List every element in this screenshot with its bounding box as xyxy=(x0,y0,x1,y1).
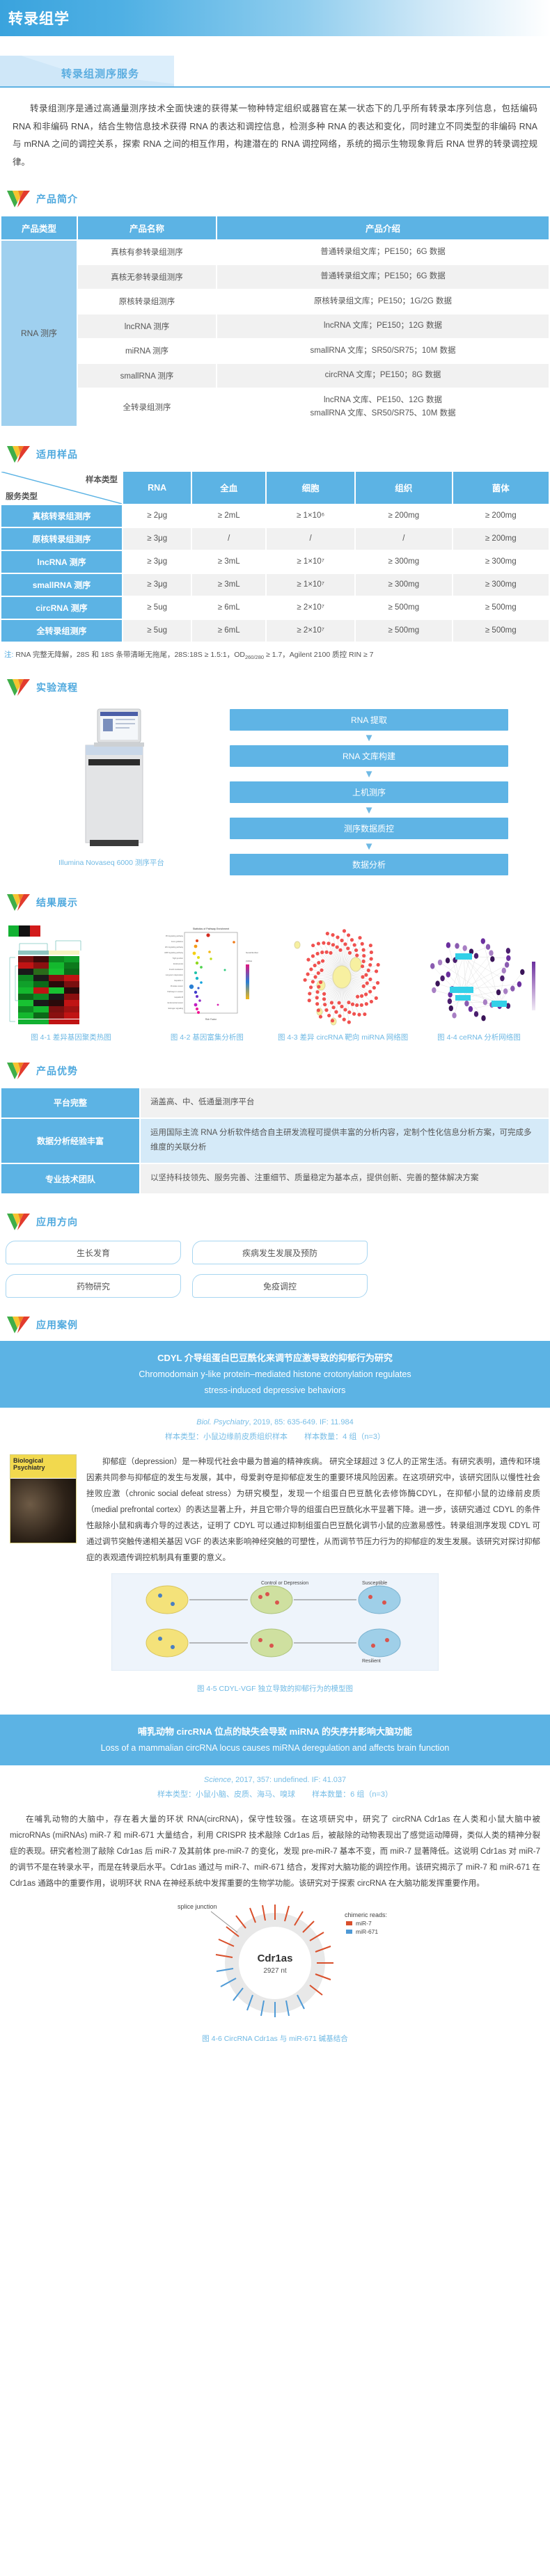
heading-label: 适用样品 xyxy=(36,447,78,461)
table-row: 原核转录组测序原核转录组文库；PE150；1G/2G 数据 xyxy=(1,289,549,315)
case-1-journal-rest: , 2019, 85: 635-649. IF: 11.984 xyxy=(249,1418,353,1426)
product-name-cell: lncRNA 测序 xyxy=(77,314,217,339)
circrna-mirna-network-icon xyxy=(278,923,409,1027)
result-caption: 图 4-1 差异基因聚类热图 xyxy=(6,1033,136,1044)
splice-junction-label: splice junction xyxy=(178,1903,217,1910)
sample-value-cell: ≥ 2mL xyxy=(191,504,266,527)
heading-product-intro: 产品简介 xyxy=(7,190,550,208)
svg-text:Statistics of Pathway Enrichme: Statistics of Pathway Enrichment xyxy=(193,928,229,930)
cdr1as-circle-diagram-icon: Cdr1as 2927 nt splice junction chimeric … xyxy=(136,1899,414,2024)
flow-step: RNA 文库构建 xyxy=(230,745,508,767)
product-name-cell: 全转录组测序 xyxy=(77,388,217,427)
svg-text:pValue: pValue xyxy=(246,960,252,962)
section-ribbon: 转录组测序服务 xyxy=(0,56,550,88)
cerna-network-icon xyxy=(414,923,544,1027)
table-row: 全转录组测序≥ 5ug≥ 6mL≥ 2×10⁷≥ 500mg≥ 500mg xyxy=(1,619,549,642)
svg-text:Endocytosis: Endocytosis xyxy=(173,962,184,965)
heading-label: 产品简介 xyxy=(36,192,78,206)
svg-text:Wnt signaling pathway: Wnt signaling pathway xyxy=(165,946,184,948)
sample-service-cell: circRNA 测序 xyxy=(1,596,123,619)
sample-value-cell: / xyxy=(191,527,266,550)
sample-value-cell: ≥ 3μg xyxy=(123,527,191,550)
table-row: 真核无参转录组测序普通转录组文库；PE150；6G 数据 xyxy=(1,264,549,289)
note-subscript: 260/280 xyxy=(245,654,264,660)
product-desc-cell: 普通转录组文库；PE150；6G 数据 xyxy=(217,264,549,289)
product-desc-cell: lncRNA 文库、PE150、12G 数据 smallRNA 文库、SR50/… xyxy=(217,388,549,427)
sample-service-cell: 原核转录组测序 xyxy=(1,527,123,550)
sample-value-cell: ≥ 2×10⁷ xyxy=(266,619,355,642)
sample-value-cell: ≥ 3mL xyxy=(191,573,266,596)
sample-note: 注: RNA 完整无降解，28S 和 18S 条带清晰无拖尾，28S:18S ≥… xyxy=(4,649,546,660)
ribbon-underline xyxy=(0,86,550,88)
product-desc-cell: 普通转录组文库；PE150；6G 数据 xyxy=(217,240,549,265)
application-directions: 生长发育疾病发生发展及预防药物研究免疫调控 xyxy=(0,1238,550,1298)
case-1-meta: Biol. Psychiatry, 2019, 85: 635-649. IF:… xyxy=(0,1415,550,1445)
case-2-sample-count: 样本数量：6 组（n=3） xyxy=(312,1790,393,1799)
th-sample-bacteria: 菌体 xyxy=(453,471,549,504)
heading-results: 结果展示 xyxy=(7,893,550,912)
case-2-journal-rest: , 2017, 357: undefined. IF: 41.037 xyxy=(231,1776,346,1784)
sample-value-cell: ≥ 300mg xyxy=(355,573,452,596)
svg-text:Rich Factor: Rich Factor xyxy=(205,1018,217,1021)
case-1-title-en-line2: stress-induced depressive behaviors xyxy=(19,1383,531,1399)
cdyl-vgf-model-diagram-icon: Control or Depression Susceptible Resili… xyxy=(111,1573,439,1671)
case-1-title-banner: CDYL 介导组蛋白巴豆酰化来调节应激导致的抑郁行为研究 Chromodomai… xyxy=(0,1341,550,1408)
product-desc-cell: lncRNA 文库；PE150；12G 数据 xyxy=(217,314,549,339)
sample-value-cell: ≥ 1×10⁶ xyxy=(266,504,355,527)
workflow-block: Illumina Novaseq 6000 测序平台 RNA 提取▼RNA 文库… xyxy=(0,703,550,875)
svg-text:Long-term depression: Long-term depression xyxy=(166,973,184,976)
table-row: lncRNA 测序≥ 3μg≥ 3mL≥ 1×10⁷≥ 300mg≥ 300mg xyxy=(1,550,549,573)
advantage-value: 涵盖高、中、低通量测序平台 xyxy=(140,1088,549,1118)
sample-value-cell: ≥ 3μg xyxy=(123,573,191,596)
case-2-title-en: Loss of a mammalian circRNA locus causes… xyxy=(19,1740,531,1756)
flow-step: 上机测序 xyxy=(230,781,508,803)
results-figures: 图 4-1 差异基因聚类热图 Pi3 signaling pathway Axo… xyxy=(0,919,550,1044)
case-1-sample-type: 样本类型：小鼠边缘前皮质组织样本 xyxy=(165,1433,288,1441)
sample-value-cell: ≥ 300mg xyxy=(453,550,549,573)
th-product-name: 产品名称 xyxy=(77,216,217,240)
sequencer-caption: Illumina Novaseq 6000 测序平台 xyxy=(0,857,223,868)
sample-value-cell: / xyxy=(266,527,355,550)
product-category-cell: RNA 测序 xyxy=(1,240,77,427)
svg-text:Prostate cancer: Prostate cancer xyxy=(171,985,183,987)
case-1-text: 抑郁症（depression）是一种现代社会中最为普遍的精神疾病。 研究全球超过… xyxy=(86,1454,540,1566)
application-direction-pill[interactable]: 生长发育 xyxy=(6,1241,181,1264)
sequencer-column: Illumina Novaseq 6000 测序平台 xyxy=(0,703,223,868)
svg-text:Estrogen signaling: Estrogen signaling xyxy=(168,1007,184,1010)
advantage-value: 以坚持科技领先、服务完善、注重细节、质量稳定为基本点，提供创新、完善的整体解决方… xyxy=(140,1163,549,1194)
intro-paragraph: 转录组测序是通过高通量测序技术全面快速的获得某一物种特定组织或器官在某一状态下的… xyxy=(13,100,537,172)
table-row: 数据分析经验丰富运用国际主流 RNA 分析软件结合自主研发流程可提供丰富的分析内… xyxy=(1,1118,549,1164)
advantage-value: 运用国际主流 RNA 分析软件结合自主研发流程可提供丰富的分析内容，定制个性化信… xyxy=(140,1118,549,1164)
sample-service-cell: smallRNA 测序 xyxy=(1,573,123,596)
v-logo-icon xyxy=(7,190,31,208)
result-caption: 图 4-2 基因富集分析图 xyxy=(141,1033,272,1044)
sample-table-corner: 样本类型 服务类型 xyxy=(1,471,123,504)
heading-workflow: 实验流程 xyxy=(7,678,550,697)
legend-mir671: miR-671 xyxy=(356,1928,378,1935)
product-name-cell: smallRNA 测序 xyxy=(77,363,217,388)
svg-text:Pi3 signaling pathway: Pi3 signaling pathway xyxy=(166,935,184,937)
application-direction-pill[interactable]: 药物研究 xyxy=(6,1274,181,1298)
heatmap-figure xyxy=(6,923,136,1027)
circle-center-label: Cdr1as xyxy=(258,1953,293,1964)
table-row: 全转录组测序lncRNA 文库、PE150、12G 数据 smallRNA 文库… xyxy=(1,388,549,427)
sample-service-cell: lncRNA 测序 xyxy=(1,550,123,573)
product-name-cell: miRNA 测序 xyxy=(77,339,217,364)
svg-text:Pathways in cancer: Pathways in cancer xyxy=(168,990,184,993)
result-figure-cerna-network: 图 4-4 ceRNA 分析网络图 xyxy=(414,923,544,1044)
sample-value-cell: ≥ 3μg xyxy=(123,550,191,573)
ribbon-label: 转录组测序服务 xyxy=(61,66,139,81)
flow-arrow-icon: ▼ xyxy=(230,841,508,852)
sample-value-cell: ≥ 300mg xyxy=(453,573,549,596)
flow-arrow-icon: ▼ xyxy=(230,805,508,816)
note-label: 注: xyxy=(4,651,13,659)
case-2-figure: Cdr1as 2927 nt splice junction chimeric … xyxy=(0,1899,550,2028)
advantage-key: 平台完整 xyxy=(1,1088,140,1118)
sample-value-cell: ≥ 3mL xyxy=(191,550,266,573)
advantage-key: 数据分析经验丰富 xyxy=(1,1118,140,1164)
note-text-2: ≥ 1.7，Agilent 2100 质控 RIN ≥ 7 xyxy=(264,651,373,659)
page-root: 转录组学 转录组测序服务 转录组测序是通过高通量测序技术全面快速的获得某一物种特… xyxy=(0,0,550,2065)
sample-value-cell: / xyxy=(355,527,452,550)
svg-text:Hepatitis B: Hepatitis B xyxy=(175,996,184,999)
heading-advantages: 产品优势 xyxy=(7,1062,550,1080)
svg-text:Control or Depression: Control or Depression xyxy=(261,1581,308,1586)
table-row: lncRNA 测序lncRNA 文库；PE150；12G 数据 xyxy=(1,314,549,339)
sample-value-cell: ≥ 300mg xyxy=(355,550,452,573)
product-desc-cell: circRNA 文库；PE150；8G 数据 xyxy=(217,363,549,388)
advantages-table: 平台完整涵盖高、中、低通量测序平台数据分析经验丰富运用国际主流 RNA 分析软件… xyxy=(0,1087,550,1195)
table-row: miRNA 测序smallRNA 文库；SR50/SR75；10M 数据 xyxy=(1,339,549,364)
result-figure-circrna-network: 图 4-3 差异 circRNA 靶向 miRNA 网络图 xyxy=(278,923,409,1044)
case-2-text: 在哺乳动物的大脑中，存在着大量的环状 RNA(circRNA)，保守性较强。在这… xyxy=(10,1812,540,1892)
table-row: 原核转录组测序≥ 3μg///≥ 200mg xyxy=(1,527,549,550)
table-row: RNA 测序真核有参转录组测序普通转录组文库；PE150；6G 数据 xyxy=(1,240,549,265)
circrna-network-figure xyxy=(278,923,409,1027)
table-row: 真核转录组测序≥ 2μg≥ 2mL≥ 1×10⁶≥ 200mg≥ 200mg xyxy=(1,504,549,527)
product-table: 产品类型 产品名称 产品介绍 RNA 测序真核有参转录组测序普通转录组文库；PE… xyxy=(0,215,550,427)
sample-value-cell: ≥ 5ug xyxy=(123,596,191,619)
table-row: 平台完整涵盖高、中、低通量测序平台 xyxy=(1,1088,549,1118)
case-2-meta: Science, 2017, 357: undefined. IF: 41.03… xyxy=(0,1773,550,1802)
table-row: smallRNA 测序≥ 3μg≥ 3mL≥ 1×10⁷≥ 300mg≥ 300… xyxy=(1,573,549,596)
svg-text:AMP signaling pathway: AMP signaling pathway xyxy=(164,951,184,954)
th-sample-blood: 全血 xyxy=(191,471,266,504)
advantage-key: 专业技术团队 xyxy=(1,1163,140,1194)
workflow-steps: RNA 提取▼RNA 文库构建▼上机测序▼测序数据质控▼数据分析 xyxy=(223,703,550,875)
th-product-desc: 产品介绍 xyxy=(217,216,549,240)
th-sample-tissue: 组织 xyxy=(355,471,452,504)
sample-value-cell: ≥ 2×10⁷ xyxy=(266,596,355,619)
svg-text:Endometrial cancer: Endometrial cancer xyxy=(168,1001,183,1004)
v-logo-icon xyxy=(7,1213,31,1231)
product-table-body: RNA 测序真核有参转录组测序普通转录组文库；PE150；6G 数据真核无参转录… xyxy=(1,240,549,427)
sample-table-header-row: 样本类型 服务类型 RNA 全血 细胞 组织 菌体 xyxy=(1,471,549,504)
sample-table-body: 真核转录组测序≥ 2μg≥ 2mL≥ 1×10⁶≥ 200mg≥ 200mg原核… xyxy=(1,504,549,642)
sample-value-cell: ≥ 500mg xyxy=(355,619,452,642)
case-2-figure-caption: 图 4-6 CircRNA Cdr1as 与 miR-671 碱基结合 xyxy=(0,2033,550,2044)
case-1-figure-caption: 图 4-5 CDYL-VGF 独立导致的抑郁行为的模型图 xyxy=(0,1683,550,1694)
page-title: 转录组学 xyxy=(0,8,70,29)
product-desc-cell: smallRNA 文库；SR50/SR75；10M 数据 xyxy=(217,339,549,364)
case-2-sample-type: 样本类型：小鼠小脑、皮质、海马、嗅球 xyxy=(157,1790,295,1799)
heading-label: 实验流程 xyxy=(36,681,78,694)
heading-applications: 应用方向 xyxy=(7,1213,550,1231)
product-name-cell: 真核有参转录组测序 xyxy=(77,240,217,265)
sample-value-cell: ≥ 500mg xyxy=(453,619,549,642)
svg-text:Tight junction: Tight junction xyxy=(173,957,184,960)
flow-arrow-icon: ▼ xyxy=(230,733,508,743)
sample-value-cell: ≥ 200mg xyxy=(453,527,549,550)
case-1-figure: Control or Depression Susceptible Resili… xyxy=(0,1573,550,1678)
sample-value-cell: ≥ 1×10⁷ xyxy=(266,573,355,596)
sample-value-cell: ≥ 500mg xyxy=(453,596,549,619)
sample-value-cell: ≥ 2μg xyxy=(123,504,191,527)
case-1-journal-cover: Biological Psychiatry xyxy=(10,1454,77,1543)
case-1-body: Biological Psychiatry 抑郁症（depression）是一种… xyxy=(0,1454,550,1566)
heading-sample: 适用样品 xyxy=(7,445,550,463)
flow-arrow-icon: ▼ xyxy=(230,769,508,779)
case-2-title-banner: 哺乳动物 circRNA 位点的缺失会导致 miRNA 的失序并影响大脑功能 L… xyxy=(0,1715,550,1765)
v-logo-icon xyxy=(7,893,31,912)
note-text-1: RNA 完整无降解，28S 和 18S 条带清晰无拖尾，28S:18S ≥ 1.… xyxy=(15,651,245,659)
product-table-header-row: 产品类型 产品名称 产品介绍 xyxy=(1,216,549,240)
cluster-heatmap-icon xyxy=(6,923,136,1027)
flow-step: 测序数据质控 xyxy=(230,818,508,839)
application-direction-pill[interactable]: 免疫调控 xyxy=(192,1274,368,1298)
sequencer-photo xyxy=(59,703,164,853)
case-1-title-cn: CDYL 介导组蛋白巴豆酰化来调节应激导致的抑郁行为研究 xyxy=(19,1350,531,1367)
sample-value-cell: ≥ 1×10⁷ xyxy=(266,550,355,573)
case-2-journal: Science xyxy=(204,1776,231,1784)
cerna-network-figure xyxy=(414,923,544,1027)
corner-top-label: 样本类型 xyxy=(86,474,118,485)
flow-step: RNA 提取 xyxy=(230,709,508,731)
table-row: smallRNA 测序circRNA 文库；PE150；8G 数据 xyxy=(1,363,549,388)
v-logo-icon xyxy=(7,1316,31,1334)
svg-text:Axon guidance: Axon guidance xyxy=(171,940,184,943)
th-sample-rna: RNA xyxy=(123,471,191,504)
circle-center-sub: 2927 nt xyxy=(263,1967,287,1975)
result-caption: 图 4-4 ceRNA 分析网络图 xyxy=(414,1033,544,1044)
pathway-enrichment-bubble-icon: Pi3 signaling pathway Axon guidance Wnt … xyxy=(141,923,272,1027)
sample-value-cell: ≥ 500mg xyxy=(355,596,452,619)
svg-text:Insulin resistance: Insulin resistance xyxy=(169,968,184,971)
result-figure-enrichment: Pi3 signaling pathway Axon guidance Wnt … xyxy=(141,923,272,1044)
th-sample-cell: 细胞 xyxy=(266,471,355,504)
product-desc-cell: 原核转录组文库；PE150；1G/2G 数据 xyxy=(217,289,549,315)
table-row: 专业技术团队以坚持科技领先、服务完善、注重细节、质量稳定为基本点，提供创新、完善… xyxy=(1,1163,549,1194)
advantages-table-body: 平台完整涵盖高、中、低通量测序平台数据分析经验丰富运用国际主流 RNA 分析软件… xyxy=(1,1088,549,1194)
product-name-cell: 真核无参转录组测序 xyxy=(77,264,217,289)
case-2-title-cn: 哺乳动物 circRNA 位点的缺失会导致 miRNA 的失序并影响大脑功能 xyxy=(19,1724,531,1740)
heading-label: 产品优势 xyxy=(36,1064,78,1078)
case-1-sample-count: 样本数量：4 组（n=3） xyxy=(304,1433,385,1441)
sample-table: 样本类型 服务类型 RNA 全血 细胞 组织 菌体 真核转录组测序≥ 2μg≥ … xyxy=(0,470,550,643)
svg-text:Hepatitis C: Hepatitis C xyxy=(175,979,184,982)
v-logo-icon xyxy=(7,1062,31,1080)
sample-value-cell: ≥ 6mL xyxy=(191,596,266,619)
novaseq-machine-icon xyxy=(59,703,164,853)
heading-label: 应用案例 xyxy=(36,1318,78,1332)
heading-label: 应用方向 xyxy=(36,1215,78,1229)
page-banner: 转录组学 xyxy=(0,0,550,36)
case-1-title-en-line1: Chromodomain y-like protein–mediated his… xyxy=(19,1367,531,1383)
cover-image xyxy=(10,1479,76,1543)
sample-value-cell: ≥ 6mL xyxy=(191,619,266,642)
svg-text:Resilient: Resilient xyxy=(362,1659,381,1664)
th-product-type: 产品类型 xyxy=(1,216,77,240)
table-row: circRNA 测序≥ 5ug≥ 6mL≥ 2×10⁷≥ 500mg≥ 500m… xyxy=(1,596,549,619)
legend-mir7: miR-7 xyxy=(356,1920,372,1927)
svg-text:Susceptible: Susceptible xyxy=(362,1581,387,1586)
heading-cases: 应用案例 xyxy=(7,1316,550,1334)
sample-value-cell: ≥ 200mg xyxy=(355,504,452,527)
chimeric-reads-label: chimeric reads: xyxy=(345,1911,387,1918)
corner-bottom-label: 服务类型 xyxy=(6,491,38,502)
v-logo-icon xyxy=(7,445,31,463)
sample-service-cell: 真核转录组测序 xyxy=(1,504,123,527)
case-1-journal: Biol. Psychiatry xyxy=(196,1418,249,1426)
sample-value-cell: ≥ 200mg xyxy=(453,504,549,527)
cover-title: Biological Psychiatry xyxy=(10,1455,76,1472)
sample-value-cell: ≥ 5ug xyxy=(123,619,191,642)
sample-service-cell: 全转录组测序 xyxy=(1,619,123,642)
result-caption: 图 4-3 差异 circRNA 靶向 miRNA 网络图 xyxy=(278,1033,409,1044)
svg-text:GeneNumber: GeneNumber xyxy=(246,951,258,954)
heading-label: 结果展示 xyxy=(36,896,78,909)
product-name-cell: 原核转录组测序 xyxy=(77,289,217,315)
v-logo-icon xyxy=(7,678,31,697)
application-direction-pill[interactable]: 疾病发生发展及预防 xyxy=(192,1241,368,1264)
case-2-body: 在哺乳动物的大脑中，存在着大量的环状 RNA(circRNA)，保守性较强。在这… xyxy=(0,1812,550,1892)
result-figure-heatmap: 图 4-1 差异基因聚类热图 xyxy=(6,923,136,1044)
flow-step: 数据分析 xyxy=(230,854,508,875)
enrichment-figure: Pi3 signaling pathway Axon guidance Wnt … xyxy=(141,923,272,1027)
